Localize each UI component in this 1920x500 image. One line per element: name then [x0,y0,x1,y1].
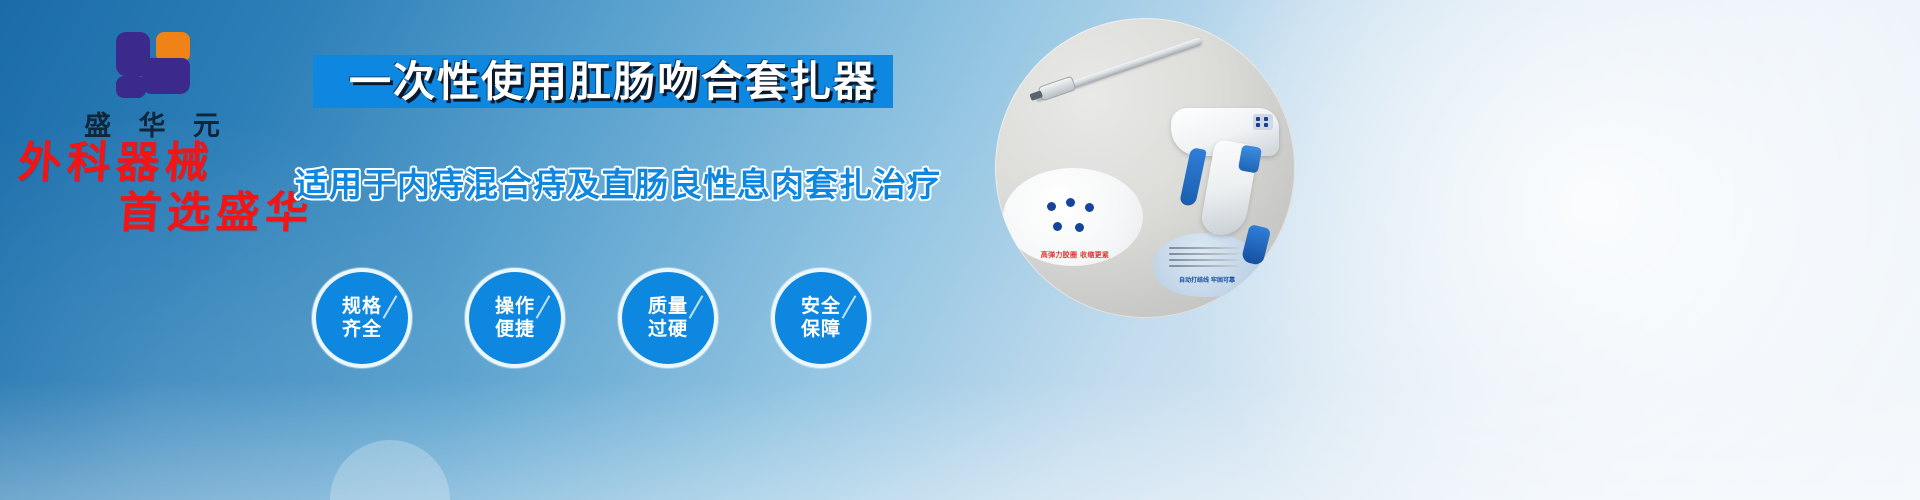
chip-dot [1264,123,1268,127]
chip-dot [1256,123,1260,127]
feature-badge-3[interactable]: 质量 过硬 [618,268,718,368]
promo-banner: 盛 华 元 外科器械 首选盛华 一次性使用肛肠吻合套扎器 适用于内痔混合痔及直肠… [0,0,1920,500]
slash-decoration-icon [689,295,704,319]
slash-decoration-icon [383,295,398,319]
instrument-tip [1038,76,1077,102]
decorative-circle [330,440,450,500]
feature-badge-2[interactable]: 操作 便捷 [465,268,565,368]
bottom-fade [0,380,1920,500]
feature-badge-1-line1: 规格 [342,295,382,318]
page-subtitle: 适用于内痔混合痔及直肠良性息肉套扎治疗 [295,158,905,206]
chip-dot [1256,117,1260,121]
feature-badge-1-line2: 齐全 [342,318,382,341]
logo-shape-bottom-left [116,76,146,98]
feature-badge-1[interactable]: 规格 齐全 [312,268,412,368]
logo-mark-icon [106,24,198,100]
feature-badge-2-line2: 便捷 [495,318,535,341]
ligator-instrument [995,18,1295,318]
feature-badge-4-line2: 保障 [801,318,841,341]
feature-badge-4[interactable]: 安全 保障 [771,268,871,368]
page-title: 一次性使用肛肠吻合套扎器 [318,52,908,112]
instrument-button [1238,144,1262,173]
product-photo[interactable]: 高弹力胶圈 收缩更紧 自动打结线 牢固可靠 [995,18,1295,318]
instrument-tail [1241,224,1272,266]
chip-dot [1264,117,1268,121]
logo-shape-bar [142,58,190,94]
feature-badge-3-line1: 质量 [648,295,688,318]
instrument-label-chip-icon [1253,114,1273,130]
slash-decoration-icon [536,295,551,319]
instrument-trigger [1179,147,1207,207]
feature-badge-3-line2: 过硬 [648,318,688,341]
feature-badge-4-line1: 安全 [801,295,841,318]
slash-decoration-icon [842,295,857,319]
feature-badge-2-line1: 操作 [495,295,535,318]
feature-badge-list: 规格 齐全 操作 便捷 质量 过硬 安全 保障 [312,268,871,368]
brand-logo[interactable]: 盛 华 元 [62,24,242,143]
